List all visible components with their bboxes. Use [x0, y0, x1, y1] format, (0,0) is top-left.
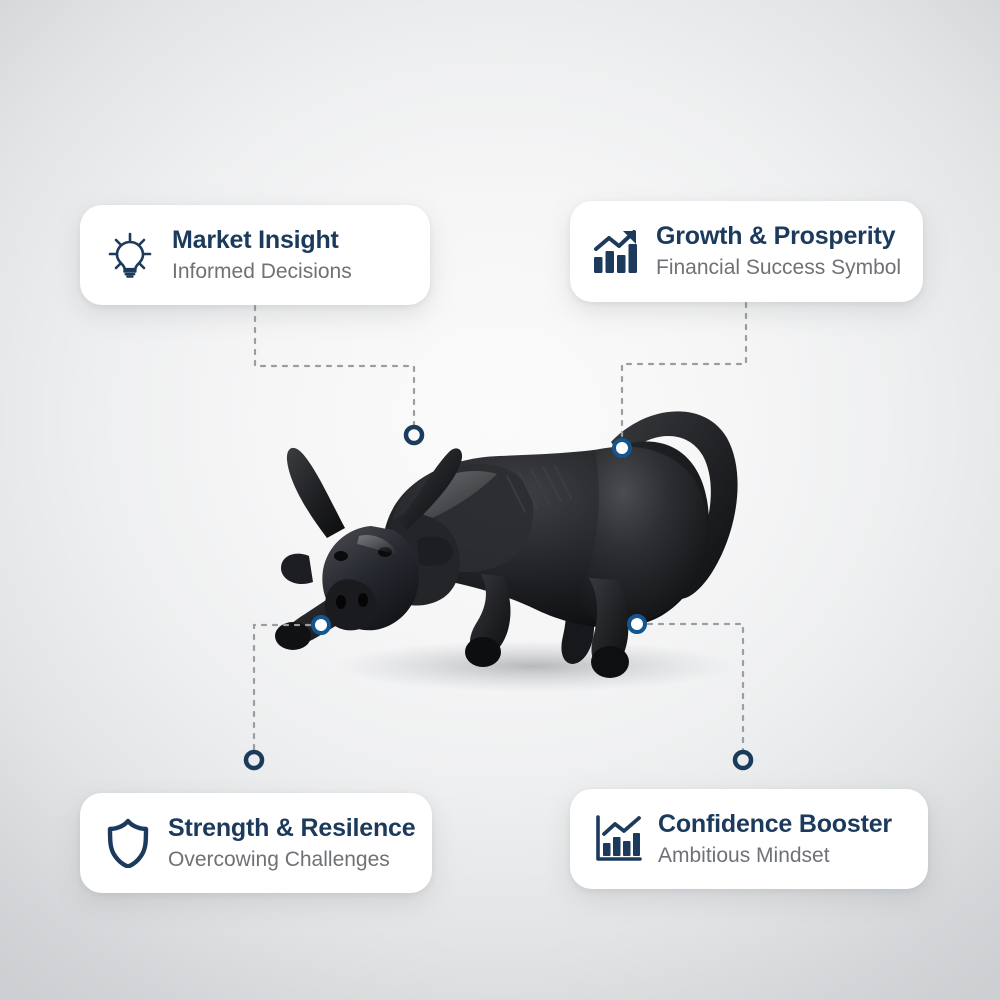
- bull-ground-shadow: [333, 640, 733, 692]
- card-market-insight[interactable]: Market Insight Informed Decisions: [80, 205, 430, 305]
- bull-ear-left: [281, 554, 313, 584]
- bull-front-hoof-far: [275, 622, 311, 650]
- card-growth-prosperity[interactable]: Growth & Prosperity Financial Success Sy…: [570, 201, 923, 302]
- chart-axis-line-icon: [592, 813, 644, 865]
- card-title: Market Insight: [172, 226, 352, 254]
- card-confidence-booster-text: Confidence Booster Ambitious Mindset: [658, 810, 892, 868]
- bull-nostril-right: [358, 593, 368, 607]
- card-growth-prosperity-text: Growth & Prosperity Financial Success Sy…: [656, 222, 901, 280]
- marker-confidence-booster-end[interactable]: [735, 752, 751, 768]
- shield-icon: [104, 817, 152, 869]
- bull-horn-left: [287, 448, 345, 538]
- charging-bull-sculpture: [275, 370, 775, 700]
- bull-hind-hoof: [591, 646, 629, 678]
- card-subtitle: Overcowing Challenges: [168, 847, 415, 872]
- bull-eye-left: [334, 551, 348, 561]
- bar-chart-arrow-up-icon: [590, 226, 642, 278]
- bull-front-hoof-near: [465, 637, 501, 667]
- lightbulb-icon: [102, 227, 158, 283]
- card-strength-resilence-text: Strength & Resilence Overcowing Challeng…: [168, 814, 415, 872]
- card-subtitle: Informed Decisions: [172, 259, 352, 284]
- card-title: Strength & Resilence: [168, 814, 415, 842]
- marker-strength-resilence-end[interactable]: [246, 752, 262, 768]
- card-strength-resilence[interactable]: Strength & Resilence Overcowing Challeng…: [80, 793, 432, 893]
- card-confidence-booster[interactable]: Confidence Booster Ambitious Mindset: [570, 789, 928, 889]
- bull-nostril-left: [336, 595, 346, 609]
- card-subtitle: Ambitious Mindset: [658, 843, 892, 868]
- card-subtitle: Financial Success Symbol: [656, 255, 901, 280]
- card-title: Confidence Booster: [658, 810, 892, 838]
- card-title: Growth & Prosperity: [656, 222, 901, 250]
- card-market-insight-text: Market Insight Informed Decisions: [172, 226, 352, 284]
- infographic-canvas: Market Insight Informed Decisions Growth…: [0, 0, 1000, 1000]
